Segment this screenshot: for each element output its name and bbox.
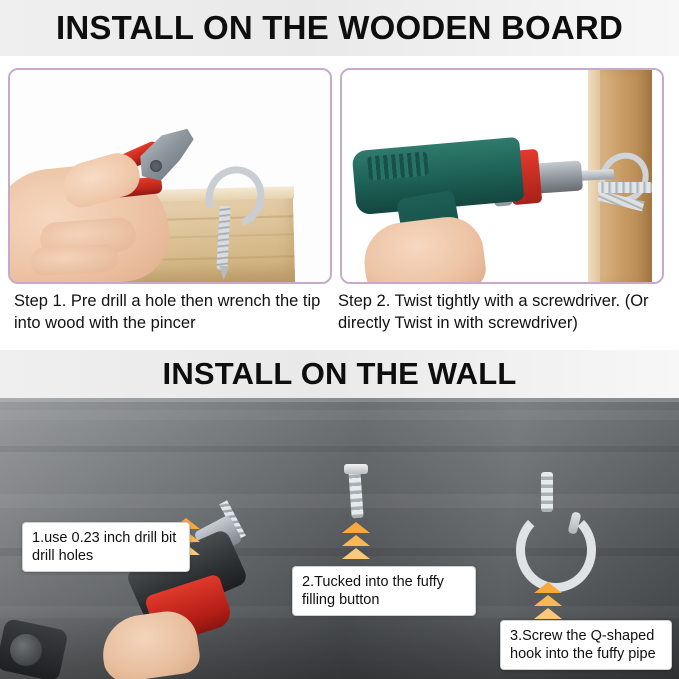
step-1-photo-inner — [10, 70, 330, 282]
step-1-caption: Step 1. Pre drill a hole then wrench the… — [14, 290, 330, 335]
banner-wall-text: INSTALL ON THE WALL — [163, 356, 517, 392]
chevron-up-icon — [534, 608, 562, 619]
step-2-caption: Step 2. Twist tightly with a screwdriver… — [338, 290, 670, 335]
wall-texture-streak — [0, 410, 679, 420]
wall-callout-2: 2.Tucked into the fuffy filling button — [292, 566, 476, 616]
chevron-up-icon — [342, 535, 370, 546]
screw-tip — [219, 266, 230, 281]
q-shaped-hook — [516, 508, 596, 592]
wall-top-highlight — [0, 398, 679, 402]
screw-hook-thread — [598, 182, 652, 193]
chevron-up-arrows-icon — [342, 522, 370, 559]
step-1-photo — [8, 68, 332, 284]
product-instruction-image: INSTALL ON THE WOODEN BOARD — [0, 0, 679, 679]
wall-texture-streak — [0, 494, 679, 508]
banner-wooden-board-text: INSTALL ON THE WOODEN BOARD — [56, 9, 623, 47]
wall-anchor-right — [541, 472, 553, 512]
wall-texture-streak — [0, 446, 679, 452]
step-2-photo — [340, 68, 664, 284]
chevron-up-arrows-icon — [534, 582, 562, 619]
banner-wall: INSTALL ON THE WALL — [0, 350, 679, 398]
drill-battery-dial — [10, 634, 42, 666]
chevron-up-icon — [342, 522, 370, 533]
chevron-up-icon — [534, 595, 562, 606]
pliers-pivot — [150, 160, 162, 172]
wall-callout-1: 1.use 0.23 inch drill bit drill holes — [22, 522, 190, 572]
wall-anchor-head — [344, 464, 368, 474]
finger — [29, 244, 118, 277]
drill-chuck — [535, 160, 583, 193]
chevron-up-icon — [342, 548, 370, 559]
wall-callout-3: 3.Screw the Q-shaped hook into the fuffy… — [500, 620, 672, 670]
step-2-photo-inner — [342, 70, 662, 282]
banner-wooden-board: INSTALL ON THE WOODEN BOARD — [0, 0, 679, 56]
chevron-up-icon — [534, 582, 562, 593]
